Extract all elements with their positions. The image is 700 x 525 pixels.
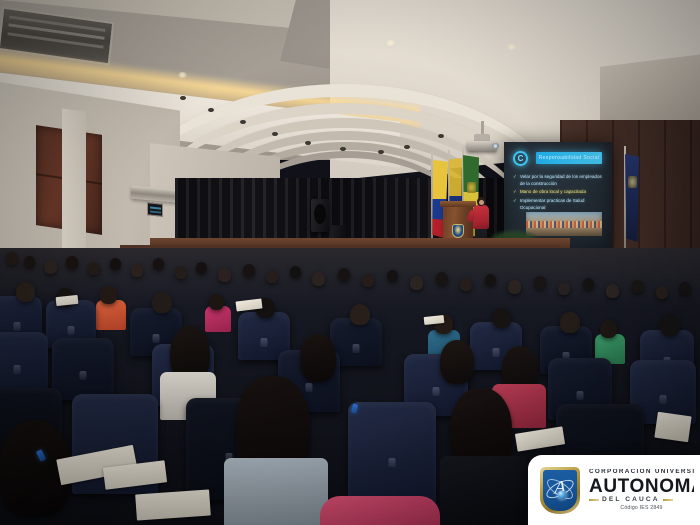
podium-top	[440, 201, 476, 207]
downlight-icon	[240, 120, 246, 124]
attendee-head	[679, 282, 691, 295]
attendee-head	[100, 286, 117, 304]
attendee-head	[312, 272, 325, 286]
recessed-light-icon	[386, 40, 395, 46]
attendee-head	[300, 334, 336, 382]
attendee-head	[110, 258, 121, 270]
slide-bullet-item: ✓ Implementar practicas de Salud Ocupaci…	[513, 198, 607, 211]
attendee-head	[362, 274, 374, 287]
attendee-head	[218, 268, 231, 282]
presenter-face	[479, 200, 484, 205]
attendee-head	[338, 268, 350, 281]
slide-bullet-text: Mano de obra local y capacitada	[520, 189, 586, 196]
attendee-head	[558, 282, 570, 295]
university-logo-badge: A CORPORACION UNIVERSITARIA AUTONOMA DEL…	[528, 455, 700, 525]
attendee-head	[485, 274, 496, 286]
logo-line-corporacion: CORPORACION UNIVERSITARIA	[589, 469, 694, 475]
attendee-torso	[96, 300, 126, 330]
attendee-head	[266, 270, 278, 283]
logo-line-codigo-ies: Código IES 2849	[589, 506, 694, 511]
attendee-head	[175, 266, 187, 279]
slide-bullet-text: Implementar practicas de Salud Ocupacion…	[520, 198, 607, 211]
attendee-head	[600, 320, 617, 338]
podium-crest-icon	[452, 224, 464, 238]
attendee-head	[24, 256, 35, 268]
downlight-icon	[305, 141, 311, 145]
downlight-icon	[378, 150, 384, 154]
logo-line-del-cauca: DEL CAUCA	[602, 497, 660, 504]
attendee-head	[436, 272, 448, 285]
slide-bullet-text: Velar por la seguridad de los empleados …	[520, 174, 607, 187]
attendee-head	[350, 304, 370, 325]
attendee-head	[196, 262, 207, 274]
attendee-head	[131, 264, 143, 277]
notebook	[135, 489, 211, 520]
auditorium-seat[interactable]	[0, 332, 48, 394]
slide-bullet-list: ✓ Velar por la seguridad de los empleado…	[513, 174, 607, 213]
attendee-head	[209, 294, 224, 310]
logo-rule-right	[663, 499, 673, 501]
attendee-head	[6, 252, 18, 265]
logo-rule-left	[589, 499, 599, 501]
attendee-head	[560, 312, 580, 333]
attendee-torso	[440, 456, 526, 525]
slide-bullet-item: ✓ Mano de obra local y capacitada	[513, 189, 607, 196]
logo-line-autonoma: AUTONOMA	[589, 477, 694, 496]
flag-institutional	[625, 154, 639, 242]
notebook	[654, 412, 691, 442]
downlight-icon	[404, 145, 410, 149]
pa-loudspeaker	[311, 199, 329, 232]
attendee-head	[387, 270, 398, 282]
logo-wordmark: CORPORACION UNIVERSITARIA AUTONOMA DEL C…	[589, 469, 694, 511]
shield-logo-icon: A	[540, 467, 580, 514]
check-icon: ✓	[513, 174, 517, 187]
flag-institutional-seal-icon	[628, 176, 637, 188]
slide-bullet-item: ✓ Velar por la seguridad de los empleado…	[513, 174, 607, 187]
downlight-icon	[180, 96, 186, 100]
attendee-head	[508, 280, 521, 294]
attendee-head	[460, 278, 472, 291]
check-icon: ✓	[513, 198, 517, 211]
attendee-torso	[320, 496, 440, 525]
attendee-torso	[224, 458, 328, 525]
slide-logo-icon: C	[513, 151, 528, 166]
attendee-head	[44, 260, 57, 274]
recessed-light-icon	[507, 44, 516, 50]
auditorium-seat[interactable]	[348, 402, 436, 506]
logo-line-del-cauca-row: DEL CAUCA	[589, 497, 694, 504]
flag-cauca-seal-icon	[467, 182, 476, 193]
attendee-head	[290, 266, 301, 278]
attendee-head	[606, 284, 619, 298]
atom-nucleus-icon	[558, 490, 567, 499]
downlight-icon	[438, 134, 444, 138]
downlight-icon	[272, 132, 278, 136]
attendee-head	[583, 278, 594, 290]
shield-inner: A	[543, 470, 577, 511]
attendee-head	[632, 280, 644, 293]
attendee-head	[16, 282, 35, 302]
recessed-light-icon	[178, 72, 187, 78]
attendee-head	[66, 256, 78, 269]
auditorium-seat[interactable]	[52, 338, 114, 400]
attendee-head	[88, 262, 100, 275]
attendee-head	[440, 340, 474, 384]
auditorium-photo: C Responsabilidad Social ✓ Velar por la …	[0, 0, 700, 525]
attendee-head	[534, 276, 546, 289]
attendee-head	[492, 308, 511, 328]
wall-control-panel	[147, 202, 163, 217]
attendee-head	[152, 292, 172, 313]
attendee-head	[660, 314, 680, 336]
attendee-head	[153, 258, 164, 270]
attendee-head	[410, 276, 423, 290]
downlight-icon	[208, 108, 214, 112]
presenter-body	[473, 205, 489, 229]
projector-lens-icon	[492, 143, 499, 149]
slide-title: Responsabilidad Social	[536, 152, 602, 164]
attendee-head	[243, 264, 255, 277]
attendee-head	[656, 286, 668, 299]
downlight-icon	[340, 147, 346, 151]
check-icon: ✓	[513, 189, 517, 196]
